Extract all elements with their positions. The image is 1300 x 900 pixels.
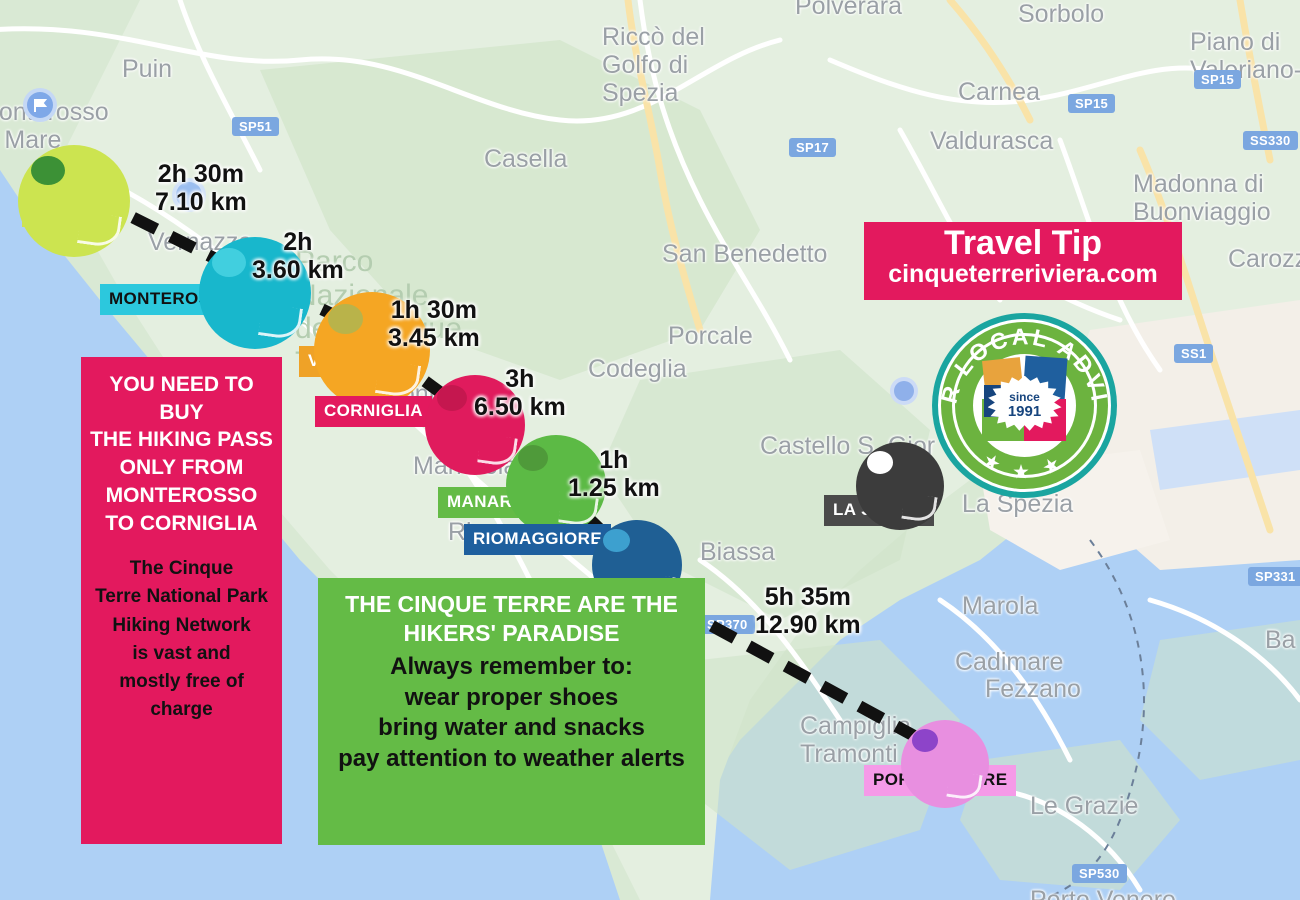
hikers-paradise-body: Always remember to:wear proper shoesbrin… [326, 652, 697, 775]
marker-highlight [518, 445, 548, 471]
leg-duration: 2h 30m [155, 160, 247, 188]
route-leg-monterosso-vernazza: 2h3.60 km [252, 228, 344, 284]
town-marker-levanto[interactable] [18, 145, 130, 257]
travel-tip-url: cinqueterreriviera.com [864, 261, 1182, 289]
leg-duration: 5h 35m [755, 583, 861, 611]
town-label-riomaggiore[interactable]: RIOMAGGIORE [464, 524, 611, 555]
badge-since-label: since [1009, 391, 1040, 403]
marker-highlight [437, 385, 467, 411]
map-infographic: PuinMonterossoal MareRiccò delGolfo diSp… [0, 0, 1300, 900]
leg-duration: 1h 30m [388, 296, 480, 324]
hikers-paradise-notice: THE CINQUE TERRE ARE THE HIKERS' PARADIS… [318, 578, 705, 845]
leg-duration: 1h [568, 446, 660, 474]
marker-highlight [212, 248, 246, 277]
leg-duration: 3h [474, 365, 566, 393]
marker-highlight [912, 729, 938, 752]
hiking-pass-headline: YOU NEED TO BUYTHE HIKING PASSONLY FROMM… [89, 371, 274, 537]
travel-tip-title: Travel Tip [864, 226, 1182, 261]
route-leg-manarola-riomaggiore: 1h1.25 km [568, 446, 660, 502]
hiking-pass-notice: YOU NEED TO BUYTHE HIKING PASSONLY FROMM… [81, 357, 282, 844]
leg-distance: 12.90 km [755, 611, 861, 639]
leg-duration: 2h [252, 228, 344, 256]
town-marker-laspezia[interactable] [856, 442, 944, 530]
leg-distance: 3.60 km [252, 256, 344, 284]
leg-distance: 7.10 km [155, 188, 247, 216]
travel-tip-banner: Travel Tip cinqueterreriviera.com [864, 222, 1182, 300]
svg-text:★ ★ ★: ★ ★ ★ [980, 450, 1068, 481]
your-local-advisor-badge: YOUR LOCAL ADVISOR ★ ★ ★ since 1991 [932, 313, 1117, 498]
town-marker-portovenere[interactable] [901, 720, 989, 808]
leg-distance: 1.25 km [568, 474, 660, 502]
marker-highlight [31, 156, 65, 185]
leg-distance: 6.50 km [474, 393, 566, 421]
badge-year-label: 1991 [1008, 403, 1041, 421]
hikers-paradise-headline: THE CINQUE TERRE ARE THE HIKERS' PARADIS… [326, 590, 697, 649]
route-leg-vernazza-corniglia: 1h 30m3.45 km [388, 296, 480, 352]
hiking-pass-body: The CinqueTerre National ParkHiking Netw… [89, 555, 274, 724]
marker-highlight [328, 304, 363, 334]
marker-highlight [603, 529, 630, 552]
route-leg-corniglia-manarola: 3h6.50 km [474, 365, 566, 421]
leg-distance: 3.45 km [388, 324, 480, 352]
route-leg-levanto-monterosso: 2h 30m7.10 km [155, 160, 247, 216]
route-leg-riomaggiore-portovenere: 5h 35m12.90 km [755, 583, 861, 639]
marker-highlight [867, 451, 893, 474]
town-label-corniglia[interactable]: CORNIGLIA [315, 396, 432, 427]
